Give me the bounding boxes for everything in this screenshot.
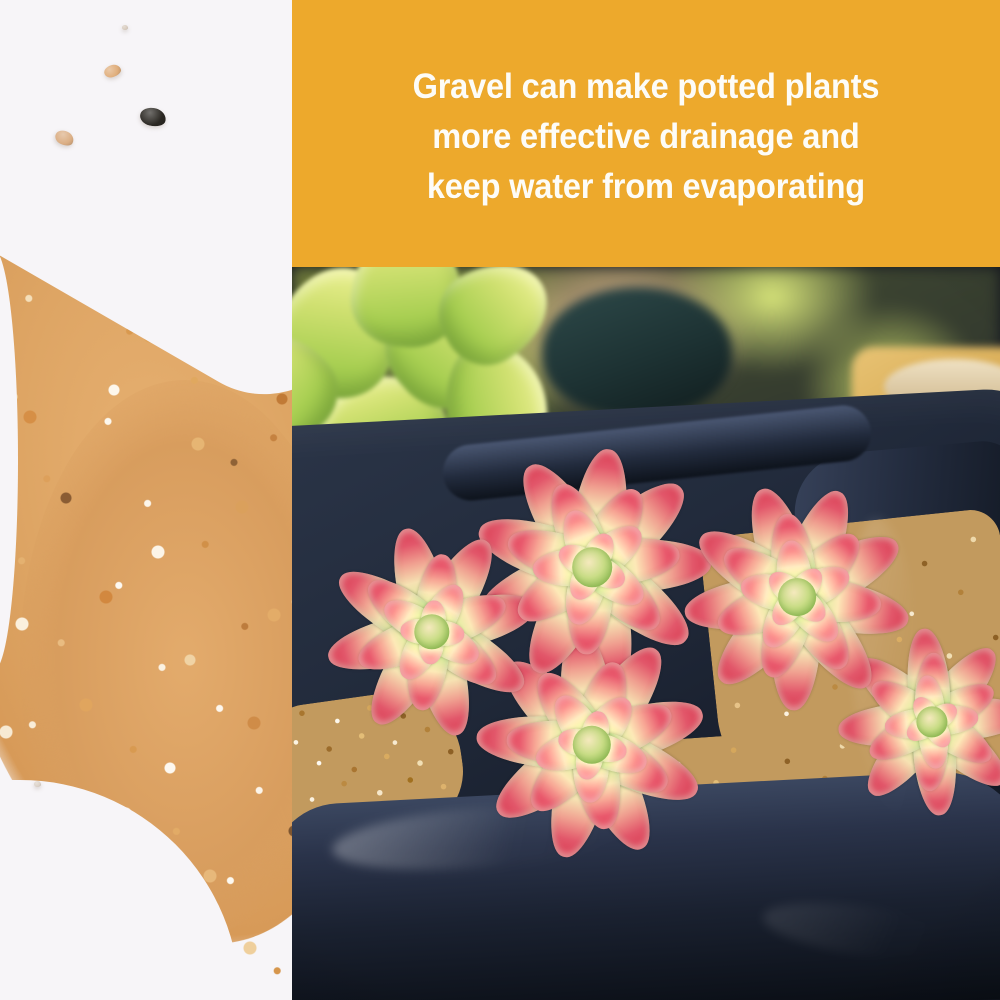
succulent-core [778,578,816,616]
headline-banner: Gravel can make potted plants more effec… [292,0,1000,267]
infographic-canvas: Gravel can make potted plants more effec… [0,0,1000,1000]
headline-text: Gravel can make potted plants more effec… [413,62,880,212]
succulent-photo-panel [292,267,1000,1000]
headline-line-1: Gravel can make potted plants [413,62,880,112]
gravel-photo-panel [0,0,292,1000]
tiny-speck-2 [34,781,41,787]
headline-line-2: more effective drainage and [413,112,880,162]
background-teal-bowl [542,287,732,417]
succulent-core [572,547,612,587]
headline-line-3: keep water from evaporating [413,162,880,212]
tiny-speck [122,25,128,30]
